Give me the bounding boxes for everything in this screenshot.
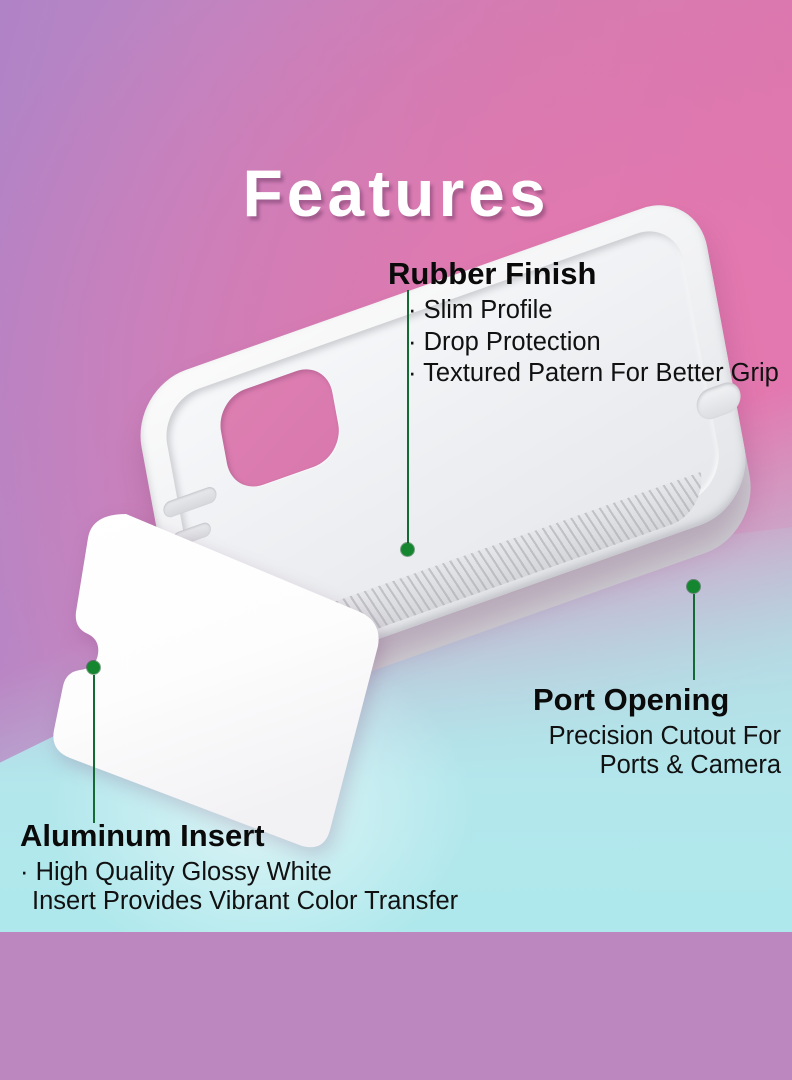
callout-text-aluminum-insert: · High Quality Glossy White Insert Provi… [20, 858, 458, 915]
infographic-canvas: Features [0, 0, 792, 1080]
callout-heading-aluminum-insert: Aluminum Insert [20, 820, 265, 851]
product-scene: Features [0, 0, 792, 932]
callout-heading-port-opening: Port Opening [533, 684, 729, 715]
aluminum-insert-line-2: Insert Provides Vibrant Color Transfer [20, 887, 458, 916]
callout-bullets-rubber-finish: · Slim Profile · Drop Protection · Textu… [408, 296, 779, 391]
callout-text-port-opening: Precision Cutout For Ports & Camera [533, 722, 781, 779]
port-opening-line-2: Ports & Camera [533, 751, 781, 780]
bullet-drop-protection: · Drop Protection [408, 328, 779, 357]
callout-heading-rubber-finish: Rubber Finish [388, 258, 596, 289]
callout-line-aluminum-insert [93, 675, 95, 823]
callout-dot-rubber-finish [401, 543, 414, 556]
port-opening-line-1: Precision Cutout For [533, 722, 781, 751]
callout-line-port-opening [693, 594, 695, 680]
callout-dot-aluminum-insert [87, 661, 100, 674]
callout-dot-port-opening [687, 580, 700, 593]
bullet-textured-pattern: · Textured Patern For Better Grip [408, 359, 779, 388]
aluminum-insert-line-1: · High Quality Glossy White [20, 858, 458, 887]
bullet-slim-profile: · Slim Profile [408, 296, 779, 325]
